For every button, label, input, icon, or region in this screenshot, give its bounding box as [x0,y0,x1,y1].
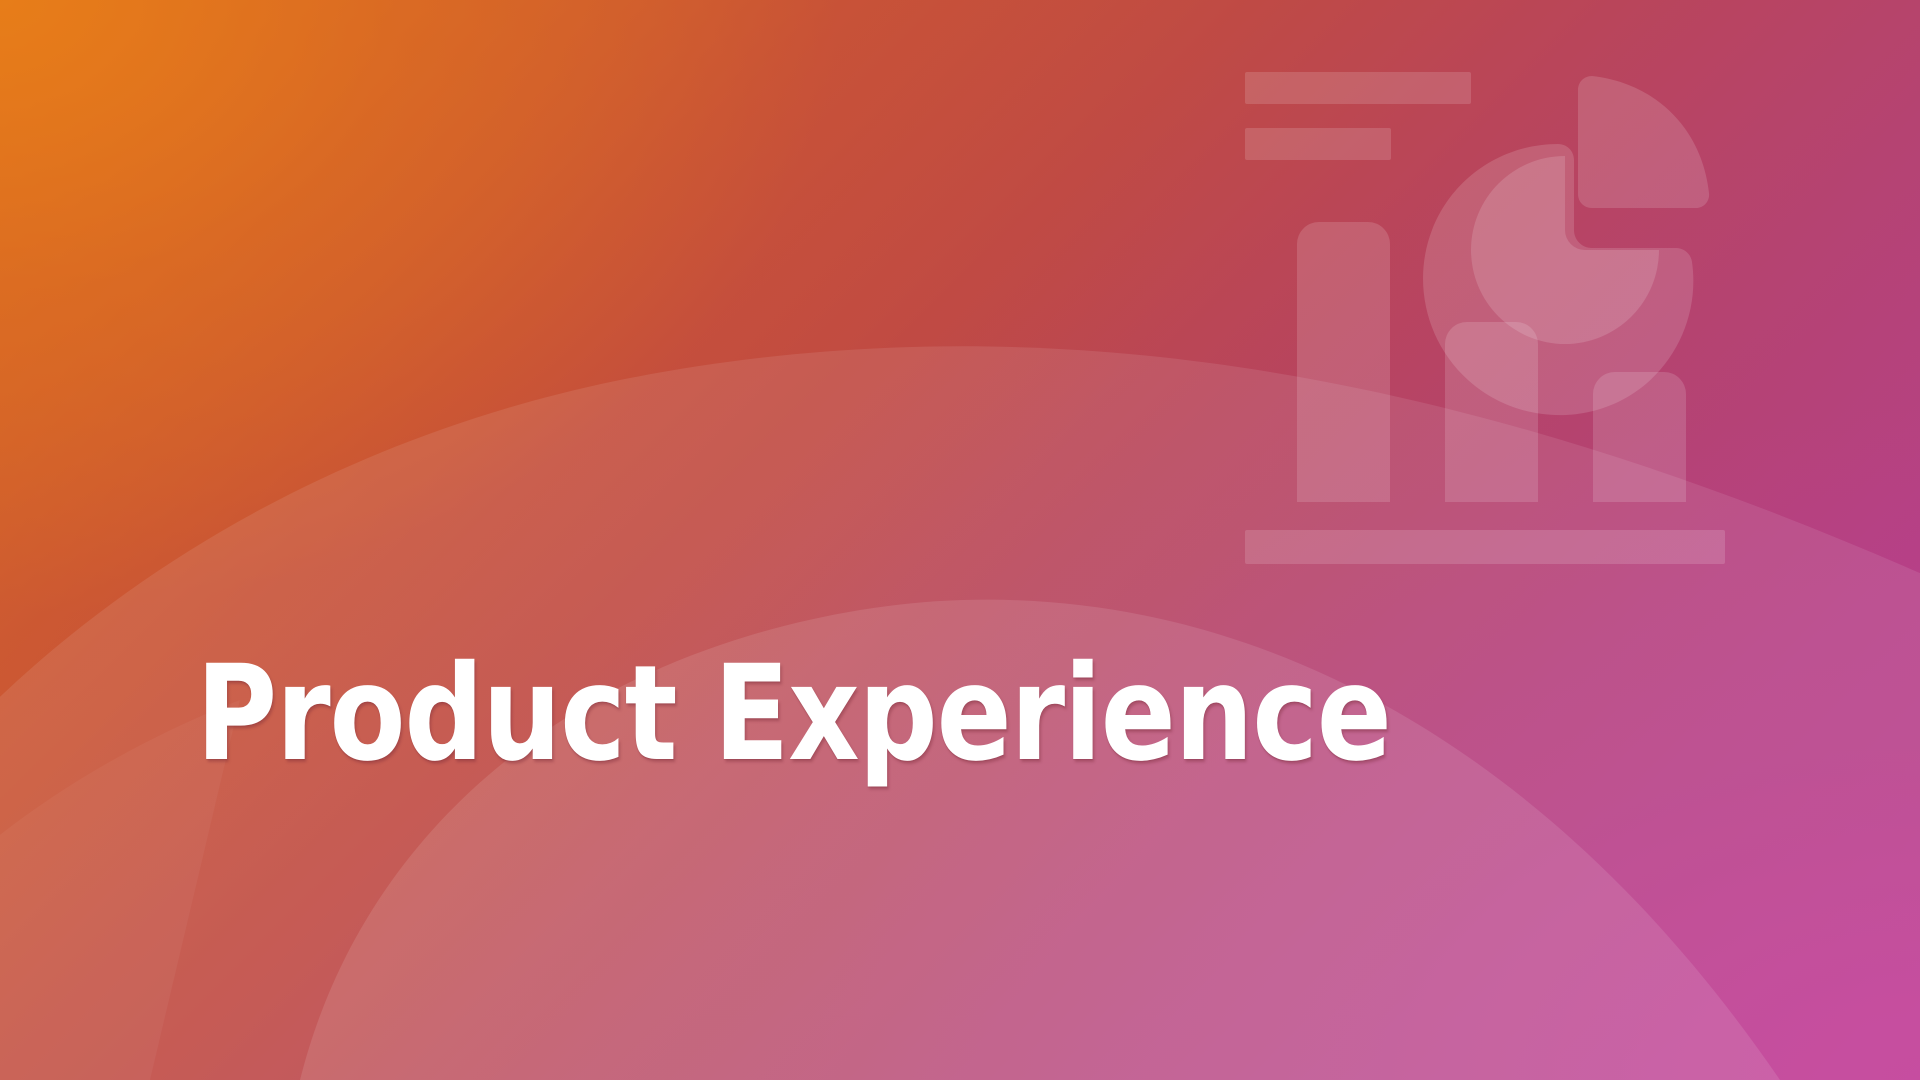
baseline-bar-icon [1245,530,1725,564]
decorative-arcs [0,0,1920,1080]
bar-tall-icon [1297,222,1390,502]
bar-short-icon [1593,372,1686,502]
title-block: Product Experience [196,648,1596,808]
page-title: Product Experience [196,648,1372,780]
slide-canvas: Product Experience [0,0,1920,1080]
header-bar-short-icon [1245,128,1391,160]
background-gradient-tint [0,0,1920,1080]
pie-chart-body-icon [1471,156,1659,344]
pie-chart-wedge-icon [1578,76,1709,208]
pie-chart-disc-icon [1423,144,1693,415]
header-bar-long-icon [1245,72,1471,104]
bar-medium-icon [1445,322,1538,502]
analytics-decoration [1240,60,1740,580]
